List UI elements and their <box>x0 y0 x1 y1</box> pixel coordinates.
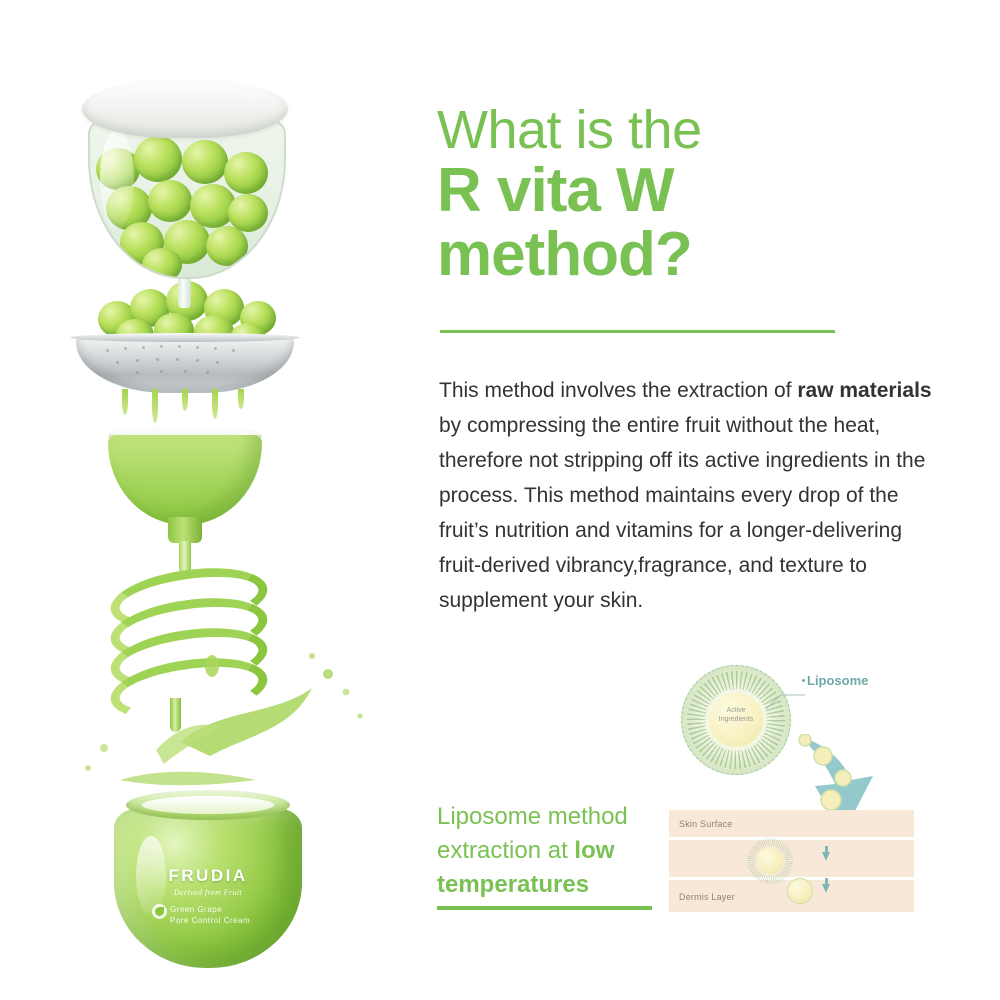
juice-drip <box>238 389 244 409</box>
glass-spiral-coil <box>98 570 278 730</box>
juice-drip <box>182 389 188 411</box>
body-text-bold: raw materials <box>797 379 931 402</box>
content-column: What is the R vita W method? This method… <box>437 0 957 1000</box>
colander-lip <box>70 333 300 342</box>
liposome-leader-dot <box>802 679 805 682</box>
glass-bowl-with-grapes <box>80 80 290 280</box>
absorbed-particle-deep <box>787 878 813 904</box>
coil-outlet <box>170 698 181 732</box>
infographic-page: FRUDIA Derived from Fruit Green Grape Po… <box>0 0 1000 1000</box>
flow-arrow-head <box>822 884 830 893</box>
bowl-rim <box>82 80 288 138</box>
body-text-after-bold: by compressing the entire fruit without … <box>439 414 925 612</box>
liposome-label: Liposome <box>807 673 868 688</box>
juice-drip <box>122 389 128 415</box>
skin-cross-section: Skin Surface Dermis Layer <box>669 810 914 912</box>
product-brand-name: FRUDIA <box>108 866 308 886</box>
colander-bowl <box>76 337 294 393</box>
flow-arrow-head <box>822 852 830 861</box>
product-tagline: Derived from Fruit <box>108 888 308 897</box>
core-label-line2: Ingredients <box>709 715 763 724</box>
caption-divider <box>437 906 652 910</box>
liposome-core-label: Active Ingredients <box>709 706 763 724</box>
title-line-2: R vita W <box>437 159 957 223</box>
core-label-line1: Active <box>709 706 763 715</box>
product-desc-line2: Pore Control Cream <box>170 915 288 926</box>
bowl-glass <box>88 120 286 279</box>
skin-surface-label: Skin Surface <box>679 819 732 829</box>
title-divider <box>440 330 835 333</box>
juice-drip <box>152 389 158 423</box>
liposome-caption: Liposome method extraction at low temper… <box>437 800 677 902</box>
funnel-stem <box>179 541 191 571</box>
liposome-core: Active Ingredients <box>709 693 763 747</box>
juice-drip <box>212 389 218 419</box>
dermis-layer-label: Dermis Layer <box>679 892 735 902</box>
title-line-1: What is the <box>437 103 957 159</box>
product-description: Green Grape Pore Control Cream <box>170 904 288 926</box>
funnel-body <box>108 435 262 525</box>
funnel-neck <box>168 517 202 543</box>
absorbed-particle <box>757 848 783 874</box>
title-line-3: method? <box>437 223 957 287</box>
leaf-icon <box>152 904 167 919</box>
page-title: What is the R vita W method? <box>437 103 957 286</box>
jar-rim-inner <box>142 796 274 814</box>
extraction-process-illustration: FRUDIA Derived from Fruit Green Grape Po… <box>60 50 410 960</box>
body-paragraph: This method involves the extraction of r… <box>439 373 939 618</box>
liposome-vesicle: Active Ingredients <box>681 665 791 775</box>
product-jar: FRUDIA Derived from Fruit Green Grape Po… <box>108 790 308 970</box>
liposome-diagram: Active Ingredients Liposome <box>661 650 951 930</box>
body-text-before-bold: This method involves the extraction of <box>439 379 797 402</box>
product-desc-line1: Green Grape <box>170 904 288 915</box>
green-juice-funnel <box>90 425 280 585</box>
